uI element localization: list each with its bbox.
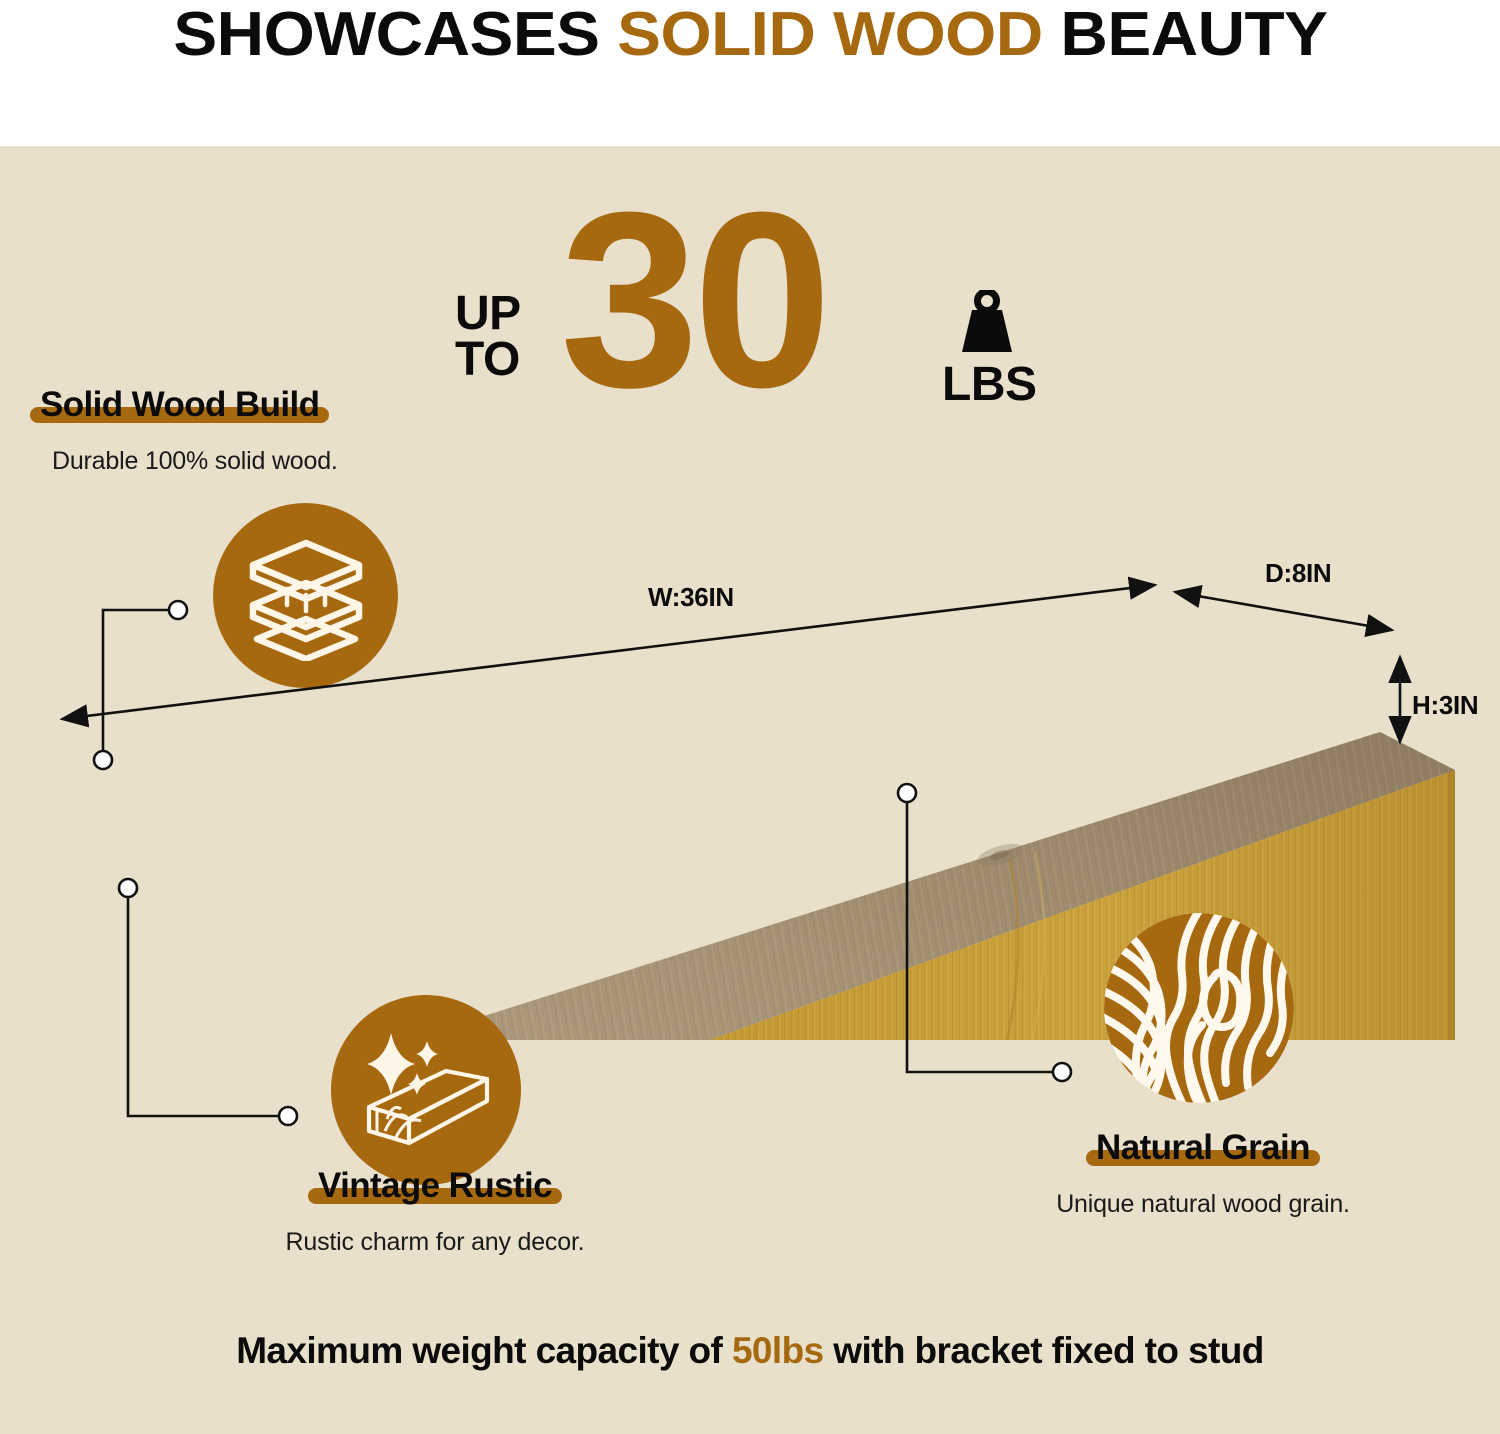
feature-title: Natural Grain <box>1096 1128 1310 1168</box>
feature-title: Solid Wood Build <box>40 385 319 425</box>
feature-title-wrap: Solid Wood Build <box>40 385 319 425</box>
feature-title: Vintage Rustic <box>318 1166 552 1206</box>
leader-line-natural-grain <box>898 784 1071 1081</box>
feature-title-wrap: Vintage Rustic <box>318 1166 552 1206</box>
caption-part2: with bracket fixed to stud <box>824 1330 1264 1371</box>
leader-line-vintage-rustic <box>119 879 297 1125</box>
annotation-overlay <box>0 0 1500 1434</box>
depth-dimension-arrow <box>1175 592 1392 630</box>
caption-accent: 50lbs <box>732 1330 824 1371</box>
bottom-caption: Maximum weight capacity of 50lbs with br… <box>0 1330 1500 1372</box>
feature-title-wrap: Natural Grain <box>1096 1128 1310 1168</box>
caption-part1: Maximum weight capacity of <box>236 1330 732 1371</box>
leader-line-solid-wood <box>94 601 187 769</box>
width-dimension-arrow <box>62 585 1155 719</box>
